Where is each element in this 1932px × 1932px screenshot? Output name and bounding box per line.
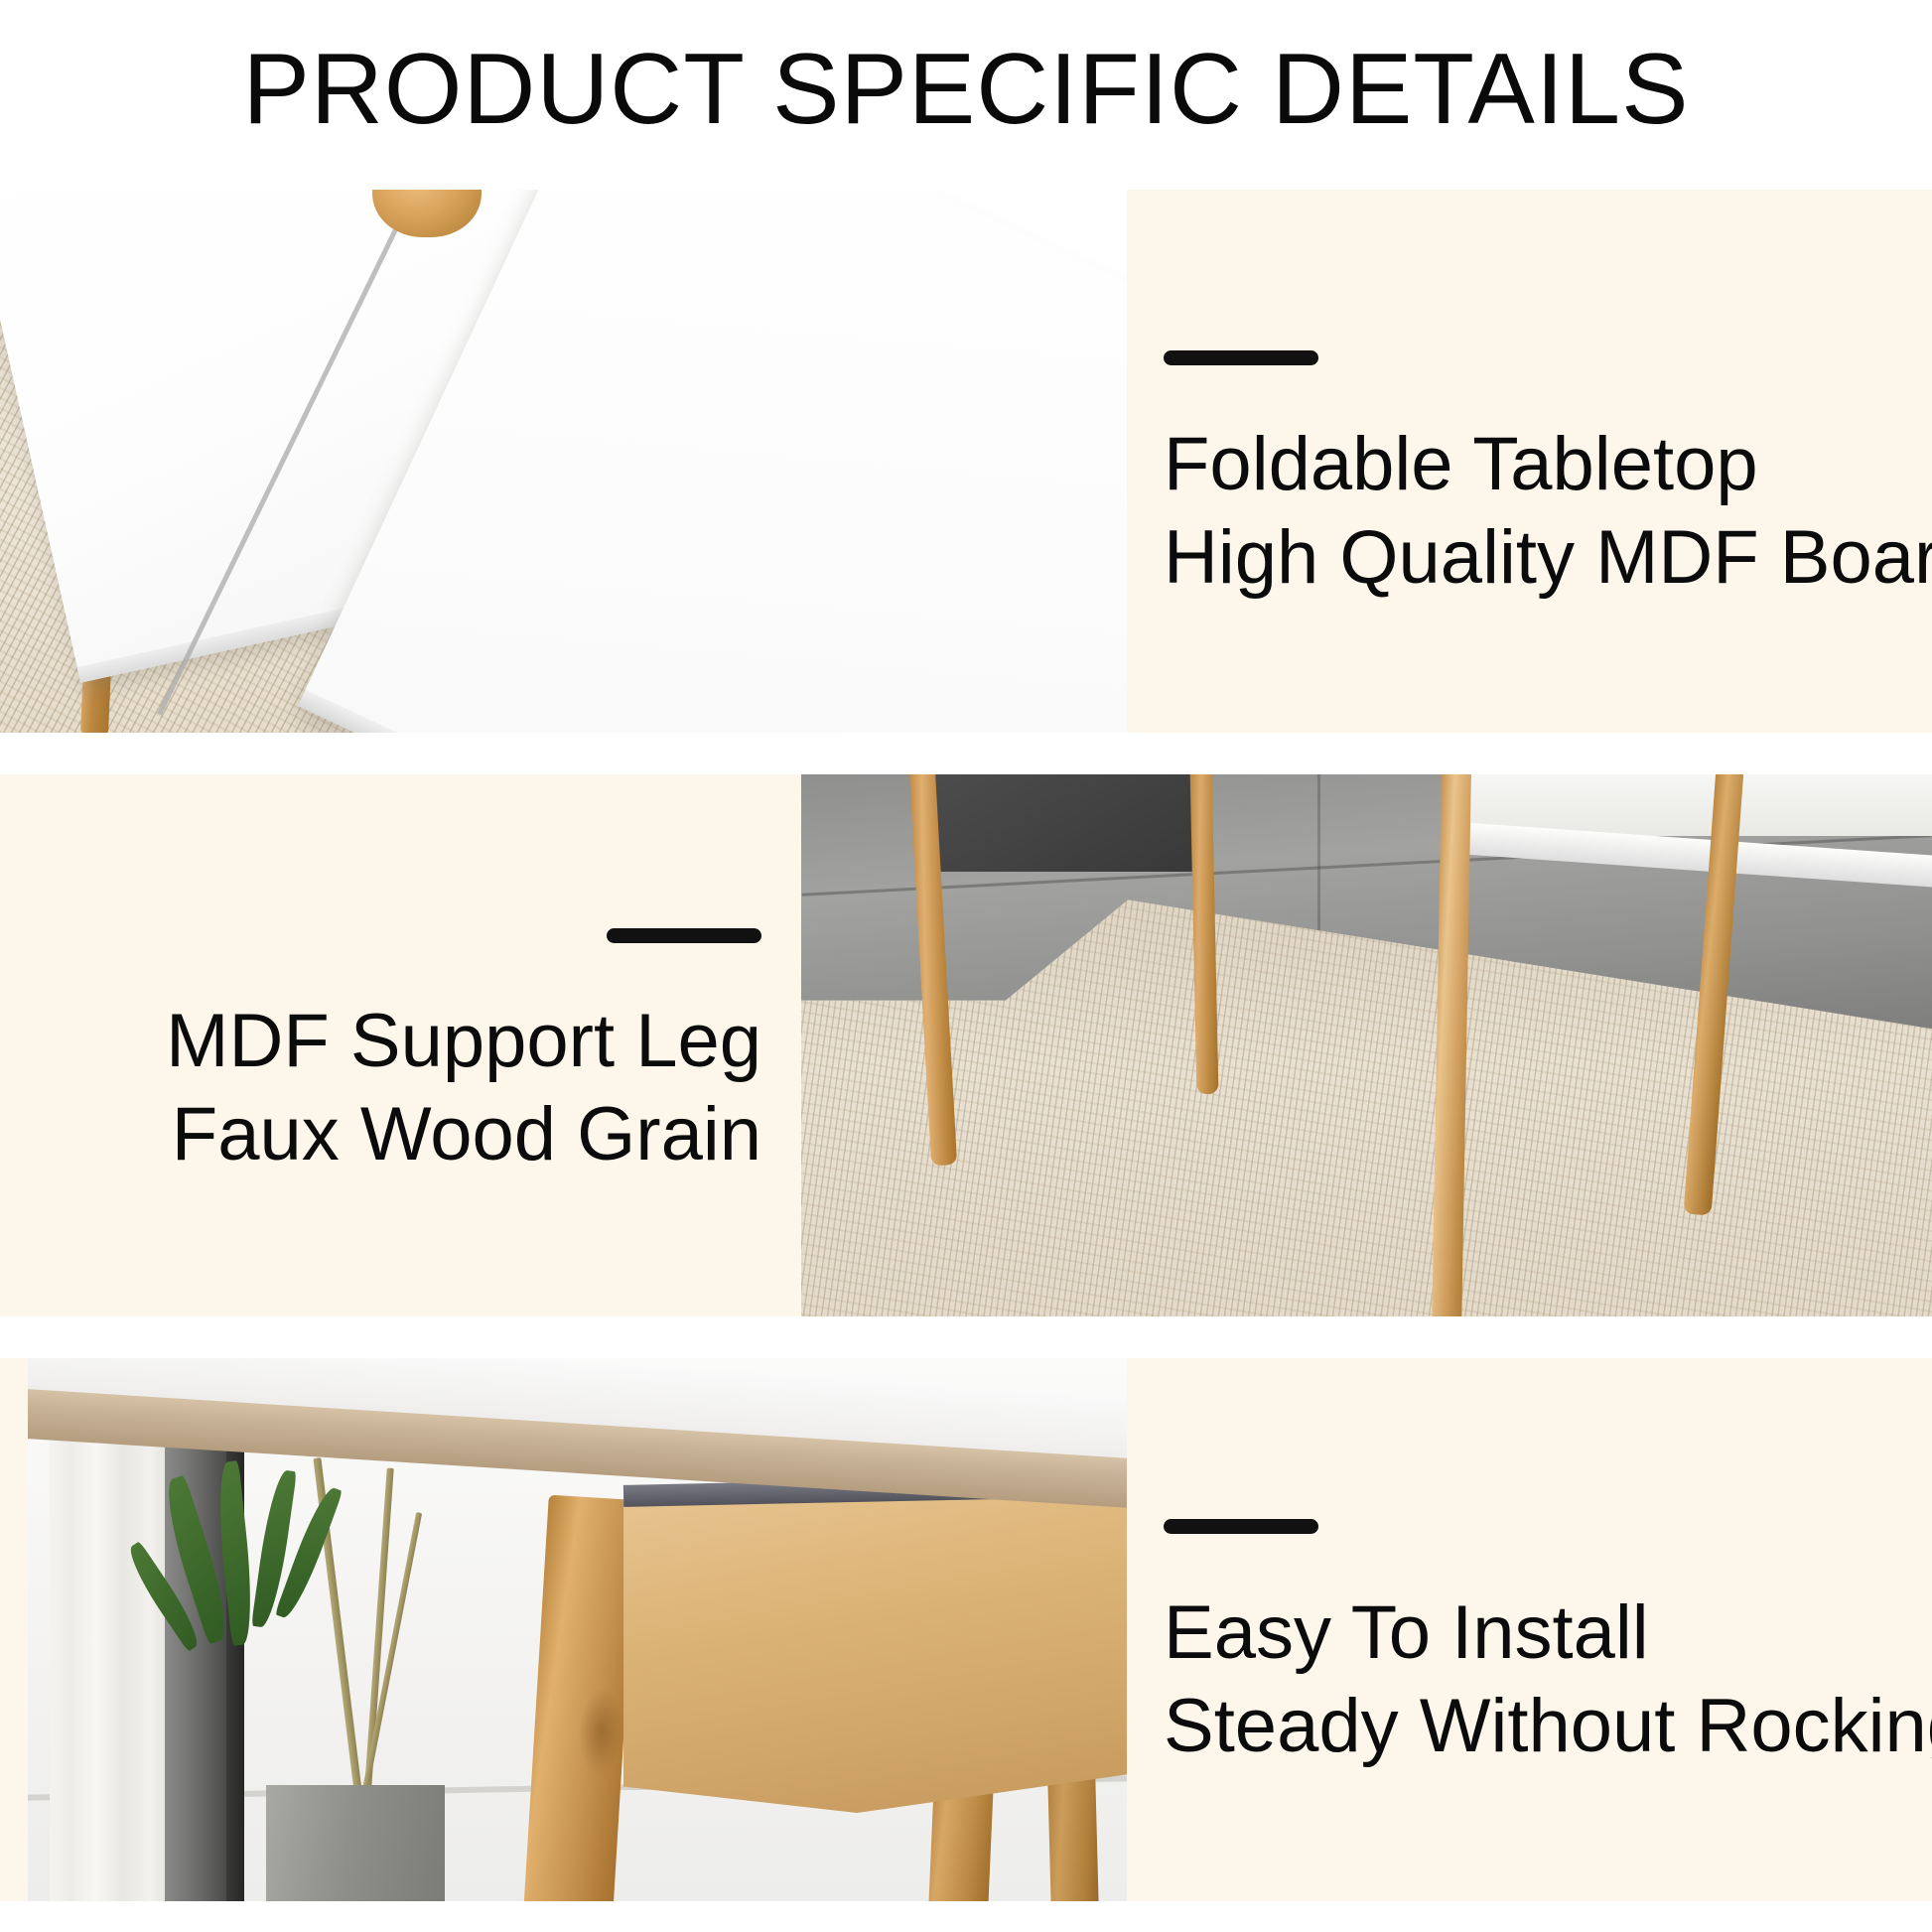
feature-line-2: Faux Wood Grain (0, 1088, 761, 1181)
table-apron (623, 1485, 1127, 1813)
feature-text-foldable-tabletop: Foldable Tabletop High Quality MDF Board (1164, 350, 1932, 605)
dash-marker-icon (1164, 1519, 1318, 1534)
feature-line-2: Steady Without Rocking (1164, 1680, 1932, 1773)
dash-marker-icon (1164, 350, 1318, 365)
feature-line-1: Easy To Install (1164, 1587, 1932, 1680)
product-photo-foldable-tabletop (0, 190, 1127, 733)
photo-scene (28, 1358, 1127, 1901)
feature-text-easy-to-install: Easy To Install Steady Without Rocking (1164, 1519, 1932, 1773)
photo-scene (0, 190, 1127, 733)
feature-panel-easy-to-install: Easy To Install Steady Without Rocking (0, 1358, 1932, 1901)
feature-line-1: Foldable Tabletop (1164, 418, 1932, 511)
product-photo-mdf-support-leg (801, 774, 1932, 1316)
feature-line-1: MDF Support Leg (0, 995, 761, 1088)
feature-text-mdf-support-leg: MDF Support Leg Faux Wood Grain (0, 928, 761, 1181)
concrete-planter (266, 1785, 445, 1901)
product-photo-easy-to-install (28, 1358, 1127, 1901)
feature-line-2: High Quality MDF Board (1164, 511, 1932, 605)
feature-panel-mdf-support-leg: MDF Support Leg Faux Wood Grain (0, 774, 1932, 1316)
photo-scene (801, 774, 1932, 1316)
page-title: PRODUCT SPECIFIC DETAILS (0, 34, 1932, 145)
feature-panel-foldable-tabletop: Foldable Tabletop High Quality MDF Board (0, 190, 1932, 733)
background-furniture (920, 774, 1208, 872)
dash-marker-icon (607, 928, 761, 943)
